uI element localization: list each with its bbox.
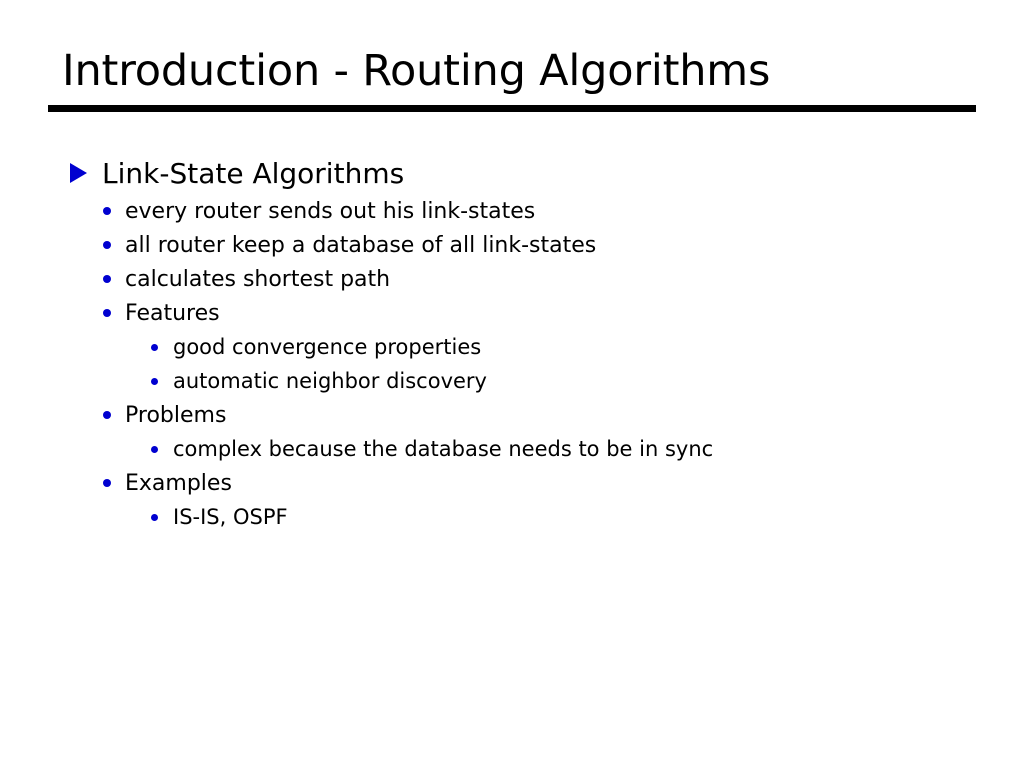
outline-item-level2: every router sends out his link-states <box>0 195 1024 229</box>
outline-item-label: every router sends out his link-states <box>125 195 535 228</box>
outline-item-label: IS-IS, OSPF <box>173 501 288 534</box>
slide-title-block: Introduction - Routing Algorithms <box>48 46 976 112</box>
outline-item-label: Examples <box>125 467 232 500</box>
round-bullet-icon <box>103 263 125 296</box>
round-bullet-icon <box>103 297 125 330</box>
outline-item-level2: Features <box>0 297 1024 331</box>
outline-item-level1: Link-State Algorithms <box>0 155 1024 195</box>
title-underline-rule <box>48 105 976 112</box>
outline-item-level3: IS-IS, OSPF <box>0 501 1024 535</box>
outline-item-level3: good convergence properties <box>0 331 1024 365</box>
slide-body-outline: Link-State Algorithms every router sends… <box>0 155 1024 535</box>
page-title: Introduction - Routing Algorithms <box>48 46 976 96</box>
outline-item-level2: Examples <box>0 467 1024 501</box>
outline-item-level2: all router keep a database of all link-s… <box>0 229 1024 263</box>
outline-item-level2: Problems <box>0 399 1024 433</box>
round-bullet-icon <box>103 195 125 228</box>
outline-item-label: calculates shortest path <box>125 263 390 296</box>
presentation-slide: Introduction - Routing Algorithms Link-S… <box>0 0 1024 768</box>
triangle-right-bullet-icon <box>70 155 102 193</box>
outline-item-level3: complex because the database needs to be… <box>0 433 1024 467</box>
outline-item-label: all router keep a database of all link-s… <box>125 229 596 262</box>
round-bullet-icon <box>103 229 125 262</box>
outline-item-label: Problems <box>125 399 226 432</box>
round-bullet-icon <box>151 501 173 534</box>
round-bullet-icon <box>103 467 125 500</box>
outline-item-label: complex because the database needs to be… <box>173 433 713 466</box>
outline-item-label: good convergence properties <box>173 331 481 364</box>
outline-item-label: Link-State Algorithms <box>102 155 404 193</box>
round-bullet-icon <box>151 433 173 466</box>
round-bullet-icon <box>151 331 173 364</box>
outline-item-label: Features <box>125 297 220 330</box>
outline-item-level3: automatic neighbor discovery <box>0 365 1024 399</box>
round-bullet-icon <box>151 365 173 398</box>
outline-item-level2: calculates shortest path <box>0 263 1024 297</box>
outline-item-label: automatic neighbor discovery <box>173 365 487 398</box>
round-bullet-icon <box>103 399 125 432</box>
